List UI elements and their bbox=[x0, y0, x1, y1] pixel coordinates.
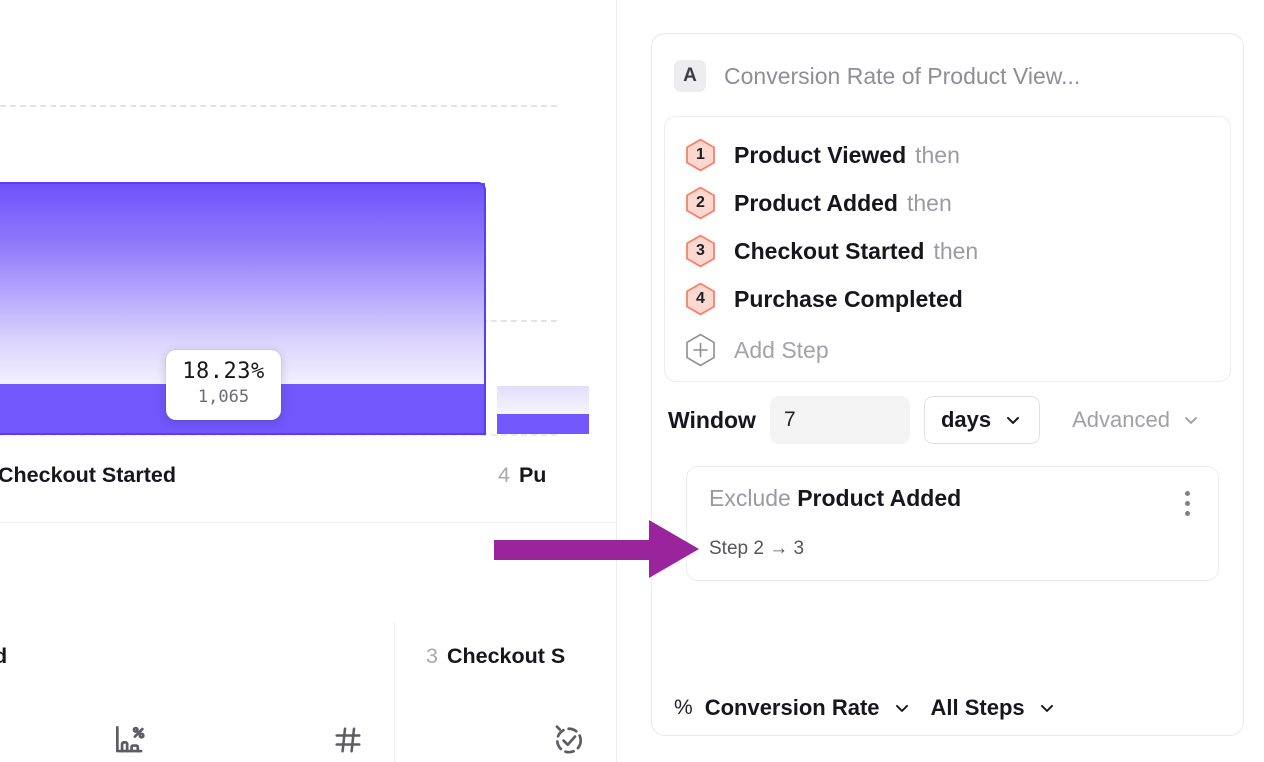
percent-bar-chart-icon-cell[interactable] bbox=[106, 718, 154, 762]
advanced-label: Advanced bbox=[1072, 407, 1170, 433]
gridline-upper bbox=[0, 105, 557, 107]
add-step-label: Add Step bbox=[734, 337, 829, 364]
step-event-name: Purchase Completed bbox=[734, 286, 963, 312]
step-label-wrap: Product Viewedthen bbox=[734, 142, 960, 169]
lower-label-number: 3 bbox=[426, 644, 438, 668]
step-number: 3 bbox=[696, 243, 705, 259]
chevron-down-icon bbox=[892, 698, 912, 718]
lower-column-divider bbox=[394, 622, 395, 762]
exclusion-event-name: Product Added bbox=[797, 485, 961, 511]
axis-label-purchase-completed: 4Pu bbox=[498, 463, 546, 488]
step-label-wrap: Checkout Startedthen bbox=[734, 238, 978, 265]
step-event-name: Product Added bbox=[734, 190, 898, 216]
kebab-dot bbox=[1185, 501, 1190, 506]
lower-label-text: Checkout S bbox=[447, 644, 565, 668]
funnel-step-3[interactable]: 3 Checkout Startedthen bbox=[665, 227, 1230, 275]
axis-label-text: Checkout Started bbox=[0, 463, 176, 487]
lower-label-text: d bbox=[0, 644, 7, 668]
query-builder-panel: A Conversion Rate of Product View... 1 P… bbox=[651, 33, 1244, 736]
plus-hexagon-icon bbox=[685, 333, 716, 367]
kebab-menu-icon[interactable] bbox=[1177, 485, 1198, 522]
scope-selector[interactable]: All Steps bbox=[931, 695, 1057, 721]
step-hexagon-icon: 3 bbox=[685, 234, 716, 268]
axis-label-number: 4 bbox=[498, 463, 510, 487]
advanced-toggle[interactable]: Advanced bbox=[1072, 407, 1201, 433]
panel-header: A Conversion Rate of Product View... bbox=[652, 34, 1243, 116]
screen: 18.23% 1,065 Checkout Started 4Pu d 3Che… bbox=[0, 0, 1264, 762]
window-unit-select[interactable]: days bbox=[924, 396, 1040, 444]
bar-gradient-body bbox=[497, 386, 589, 414]
percent-bar-chart-icon bbox=[111, 721, 149, 759]
bar-solid-base bbox=[497, 414, 589, 434]
step-hexagon-icon: 4 bbox=[685, 282, 716, 316]
tooltip-count: 1,065 bbox=[180, 386, 267, 409]
window-label: Window bbox=[668, 407, 756, 434]
exclusion-header: Exclude Product Added bbox=[709, 485, 1198, 522]
panel-footer: % Conversion Rate All Steps bbox=[652, 695, 1243, 721]
lower-label-checkout-started: 3Checkout S bbox=[426, 644, 565, 669]
step-connector: then bbox=[915, 142, 960, 168]
step-label-wrap: Product Addedthen bbox=[734, 190, 952, 217]
step-connector: then bbox=[907, 190, 952, 216]
scope-label: All Steps bbox=[931, 695, 1025, 721]
chevron-down-icon bbox=[1181, 410, 1201, 430]
tooltip-percent: 18.23% bbox=[180, 359, 267, 384]
right-arrow-annotation bbox=[494, 518, 702, 587]
step-connector: then bbox=[933, 238, 978, 264]
gridline-baseline bbox=[0, 434, 557, 436]
step-number: 1 bbox=[696, 147, 705, 163]
metric-label: Conversion Rate bbox=[705, 695, 880, 721]
funnel-steps-card: 1 Product Viewedthen 2 Product Addedthen bbox=[664, 116, 1231, 382]
step-number: 4 bbox=[696, 291, 705, 307]
chevron-down-icon bbox=[1003, 410, 1023, 430]
axis-label-text: Pu bbox=[519, 463, 546, 487]
funnel-chart-region: 18.23% 1,065 Checkout Started 4Pu d 3Che… bbox=[0, 0, 617, 762]
step-hexagon-icon: 1 bbox=[685, 138, 716, 172]
exclusion-card[interactable]: Exclude Product Added Step 2 → 3 bbox=[686, 466, 1219, 581]
chart-tooltip: 18.23% 1,065 bbox=[166, 350, 281, 420]
exclusion-prefix: Exclude bbox=[709, 485, 791, 511]
exclusion-step-range: Step 2 → 3 bbox=[709, 538, 1198, 560]
bar-purchase-completed[interactable] bbox=[497, 386, 589, 434]
chevron-down-icon bbox=[1037, 698, 1057, 718]
main-vertical-divider bbox=[616, 0, 617, 762]
step-label-wrap: Purchase Completed bbox=[734, 286, 972, 313]
dashed-circle-check-icon bbox=[550, 721, 588, 759]
dashed-circle-check-icon-cell[interactable] bbox=[545, 718, 593, 762]
axis-label-checkout-started: Checkout Started bbox=[0, 463, 176, 488]
funnel-step-2[interactable]: 2 Product Addedthen bbox=[665, 179, 1230, 227]
arrow-shape-icon bbox=[494, 518, 702, 582]
conversion-window-row: Window days Advanced bbox=[652, 382, 1243, 454]
hash-icon-cell[interactable] bbox=[324, 718, 372, 762]
exclusion-title: Exclude Product Added bbox=[709, 485, 961, 512]
funnel-step-1[interactable]: 1 Product Viewedthen bbox=[665, 131, 1230, 179]
window-value-input[interactable] bbox=[770, 396, 910, 444]
step-hexagon-icon: 2 bbox=[685, 186, 716, 220]
step-event-name: Product Viewed bbox=[734, 142, 906, 168]
hexagon-shape-icon bbox=[685, 333, 716, 367]
step-number: 2 bbox=[696, 195, 705, 211]
funnel-step-4[interactable]: 4 Purchase Completed bbox=[665, 275, 1230, 323]
percent-icon: % bbox=[674, 696, 693, 720]
panel-title[interactable]: Conversion Rate of Product View... bbox=[724, 63, 1080, 90]
lower-label-product-added: d bbox=[0, 644, 7, 669]
series-letter-badge[interactable]: A bbox=[674, 60, 706, 92]
add-step-row[interactable]: Add Step bbox=[665, 323, 1230, 371]
kebab-dot bbox=[1185, 511, 1190, 516]
window-unit-value: days bbox=[941, 407, 991, 433]
kebab-dot bbox=[1185, 491, 1190, 496]
hash-icon bbox=[330, 722, 366, 758]
metric-selector[interactable]: % Conversion Rate bbox=[674, 695, 912, 721]
step-event-name: Checkout Started bbox=[734, 238, 924, 264]
